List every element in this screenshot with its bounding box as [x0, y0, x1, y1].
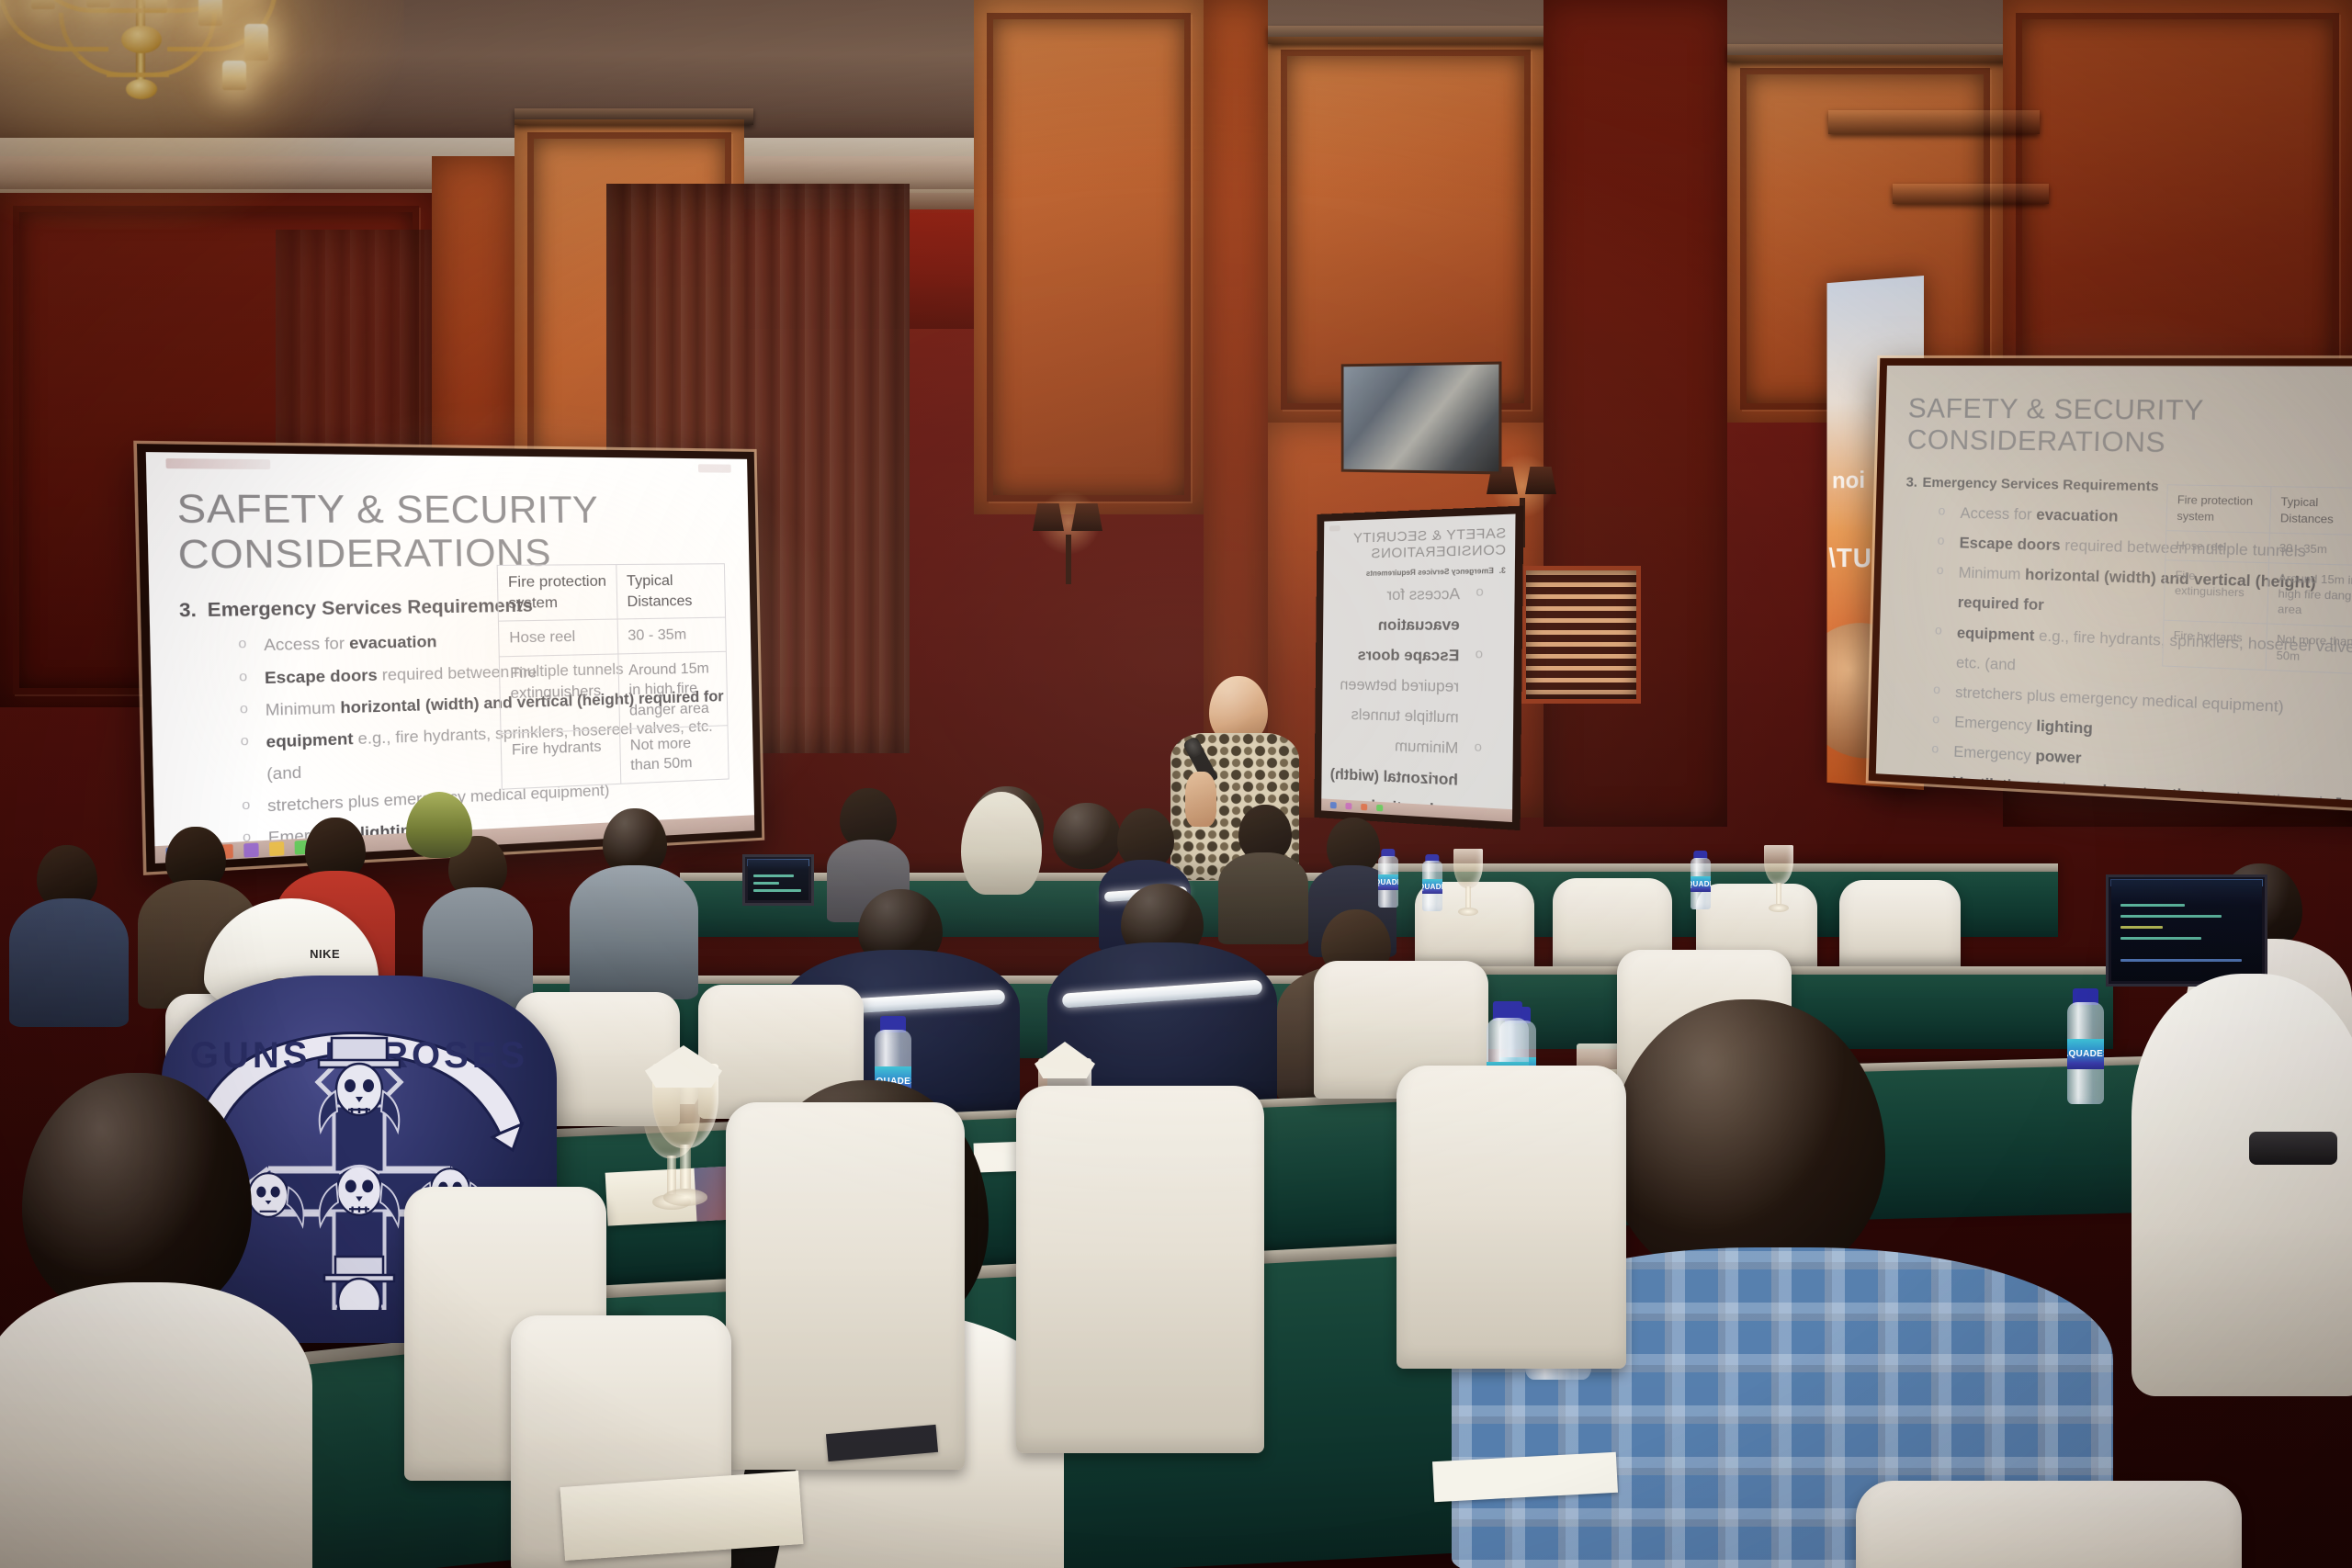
table-cell: Fire extinguishers — [500, 654, 620, 733]
slide-section-heading: 3.Emergency Services Requirements — [1331, 566, 1506, 578]
air-vent-grille — [1521, 566, 1641, 704]
table-row: Hose reel30 - 35m — [499, 617, 726, 656]
banner-text-line1: noi — [1832, 466, 1865, 494]
taskbar-icon[interactable] — [1330, 802, 1337, 808]
chandelier — [0, 0, 331, 156]
table-row: Fire extinguishersAround 15m in high fir… — [2164, 560, 2352, 628]
projection-screen-right: SAFETY & SECURITY CONSIDERATIONS 3.Emerg… — [1869, 358, 2352, 811]
attendee-torso — [0, 1282, 312, 1568]
water-bottle: AQUADES — [1422, 854, 1442, 911]
slide-bullet: Access for evacuation — [1331, 578, 1486, 640]
taskbar-icon[interactable] — [1361, 804, 1367, 811]
table-header-cell: Typical Distances — [2269, 487, 2352, 536]
slide-bullet-list: Access for evacuationEscape doors requir… — [1322, 578, 1486, 822]
fire-protection-table: Fire protection systemTypical DistancesH… — [497, 563, 729, 789]
wall-sconce — [1027, 496, 1110, 597]
table-cell: Fire hydrants — [2163, 621, 2267, 671]
table-cell: 30 - 35m — [617, 617, 726, 653]
table-cell: Around 15m in high fire danger area — [2267, 563, 2352, 628]
goblet-glass — [1764, 845, 1793, 913]
attendee-head — [1610, 999, 1885, 1284]
water-bottle: AQUADES — [1690, 851, 1711, 909]
slide-toolbar-right — [1329, 525, 1340, 532]
table-cell: Not more than 50m — [2266, 624, 2352, 674]
projection-screen-rear: SAFETY & SECURITY CONSIDERATIONS 3.Emerg… — [1314, 506, 1523, 831]
table-header-cell: Fire protection system — [2166, 485, 2271, 533]
slide-toolbar — [166, 458, 271, 470]
section-heading-text: Emergency Services Requirements — [1366, 566, 1494, 577]
section-number: 3. — [179, 600, 208, 623]
wall-panel — [974, 0, 1204, 514]
wall-monitor — [1341, 362, 1502, 475]
slide-title: SAFETY & SECURITY CONSIDERATIONS — [1906, 393, 2352, 462]
chair — [1016, 1086, 1264, 1453]
attendee — [570, 808, 698, 992]
fire-protection-table: Fire protection systemTypical DistancesH… — [2162, 485, 2352, 675]
table-cell: Hose reel — [499, 619, 618, 656]
section-number: 3. — [1494, 566, 1506, 575]
table-cell: 30 - 35m — [2268, 533, 2352, 566]
panel-trim — [1828, 110, 2040, 134]
table-row: Fire hydrantsNot more than 50m — [2163, 621, 2352, 674]
slide-toolbar-right — [698, 465, 731, 473]
table-cell: Fire hydrants — [501, 729, 621, 789]
section-heading-text: Emergency Services Requirements — [208, 596, 534, 621]
table-header-cell: Fire protection system — [497, 565, 617, 622]
chair — [1396, 1066, 1626, 1369]
slide-content-right: SAFETY & SECURITY CONSIDERATIONS 3.Emerg… — [1876, 366, 2352, 803]
table-header-row: Fire protection systemTypical Distances — [497, 564, 725, 622]
cap-brand-text: NIKE — [310, 947, 340, 961]
table-header-cell: Typical Distances — [616, 564, 725, 619]
screen-surface: SAFETY & SECURITY CONSIDERATIONS 3.Emerg… — [1321, 513, 1515, 822]
attendee-torso — [570, 865, 698, 999]
slide-bullet: Escape doors required between multiple t… — [1330, 640, 1486, 734]
section-number: 3. — [1905, 475, 1922, 491]
chair — [1839, 880, 1961, 976]
goblet-glass — [1453, 849, 1483, 917]
attendee-cap — [406, 792, 472, 858]
table-cell: Around 15m in high fire danger area — [618, 651, 728, 728]
chair — [1856, 1481, 2242, 1568]
chair — [726, 1102, 965, 1470]
conference-room-photo: noi \TU SAFETY & SECURITY CONSIDERATIONS… — [0, 0, 2352, 1568]
table-cell: Fire extinguishers — [2164, 560, 2268, 625]
attendee — [9, 845, 129, 1020]
panel-trim — [514, 108, 753, 125]
slide-title: SAFETY & SECURITY CONSIDERATIONS — [1332, 525, 1507, 563]
wristwatch — [2249, 1132, 2337, 1165]
screen-surface: SAFETY & SECURITY CONSIDERATIONS 3.Emerg… — [1876, 366, 2352, 803]
attendee-torso — [2131, 974, 2352, 1396]
bottle-label: AQUADES — [1378, 874, 1398, 890]
table-header-row: Fire protection systemTypical Distances — [2166, 485, 2352, 535]
table-row: Fire hydrantsNot more than 50m — [501, 725, 729, 789]
bottle-label: AQUADES — [1690, 876, 1711, 892]
table-row: Fire extinguishersAround 15m in high fir… — [500, 651, 728, 733]
attendee — [395, 786, 487, 887]
banner-text-line2: \TU — [1828, 544, 1872, 575]
table-cell: Not more than 50m — [620, 725, 729, 784]
slide-content-mirrored: SAFETY & SECURITY CONSIDERATIONS 3.Emerg… — [1321, 513, 1515, 822]
panel-trim — [1893, 184, 2049, 204]
bottle-label: AQUADES — [1422, 879, 1442, 894]
attendee-torso — [9, 898, 129, 1027]
panel-trim — [1268, 26, 1553, 44]
panel-trim — [1727, 44, 2012, 62]
section-heading-text: Emergency Services Requirements — [1922, 475, 2159, 495]
taskbar-icon[interactable] — [1376, 805, 1383, 812]
attendee-foreground — [0, 1073, 312, 1568]
table-cell: Hose reel — [2165, 530, 2269, 562]
attendee-foreground — [2131, 919, 2352, 1396]
taskbar-icon[interactable] — [1345, 803, 1351, 809]
water-bottle: AQUADES — [1378, 849, 1398, 908]
